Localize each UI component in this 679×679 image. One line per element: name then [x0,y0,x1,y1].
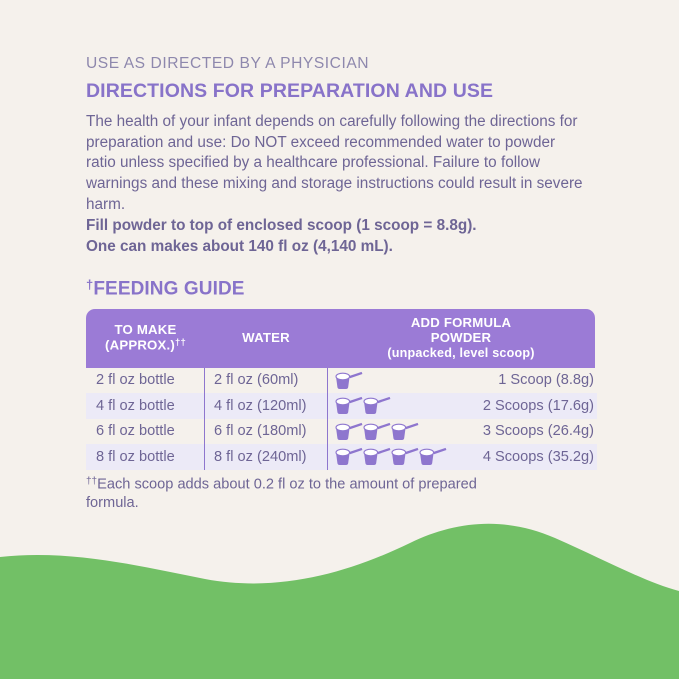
cell-scoops: 2 Scoops (17.6g) [328,393,597,419]
footnote-marker: †† [86,476,97,487]
scoop-icon [391,447,419,466]
scoop-count-label: 1 Scoop (8.8g) [498,372,594,388]
column-header-to-make: TO MAKE (APPROX.)†† [86,323,205,353]
cell-to-make: 4 fl oz bottle [86,393,205,419]
cell-to-make: 2 fl oz bottle [86,368,205,394]
table-row: 2 fl oz bottle2 fl oz (60ml)1 Scoop (8.8… [86,368,597,394]
cell-scoops: 4 Scoops (35.2g) [328,444,597,470]
to-make-approx: (APPROX.) [105,337,175,352]
powder-line1: ADD FORMULA [327,316,595,331]
scoop-icon [335,447,363,466]
directions-paragraph: The health of your infant depends on car… [86,112,586,258]
one-can-line: One can makes about 140 fl oz (4,140 mL)… [86,237,586,258]
feeding-guide-heading-label: FEEDING GUIDE [93,279,244,300]
fill-powder-line: Fill powder to top of enclosed scoop (1 … [86,216,586,237]
scoop-icon-group [335,447,447,466]
cell-scoops: 3 Scoops (26.4g) [328,419,597,445]
cell-water: 4 fl oz (120ml) [205,393,328,419]
scoop-icon [363,447,391,466]
table-body: 2 fl oz bottle2 fl oz (60ml)1 Scoop (8.8… [86,368,597,470]
feeding-guide-heading: †FEEDING GUIDE [86,277,606,301]
table-row: 8 fl oz bottle8 fl oz (240ml)4 Scoops (3… [86,444,597,470]
label-content: USE AS DIRECTED BY A PHYSICIAN DIRECTION… [86,54,606,513]
scoop-icon [419,447,447,466]
powder-subtitle: (unpacked, level scoop) [327,346,595,360]
scoop-count-label: 3 Scoops (26.4g) [483,423,594,439]
column-header-add-formula-powder: ADD FORMULA POWDER (unpacked, level scoo… [327,316,595,360]
scoop-icon [391,422,419,441]
to-make-line1: TO MAKE [86,323,205,338]
cell-scoops: 1 Scoop (8.8g) [328,368,597,394]
scoop-icon [363,396,391,415]
eyebrow-text: USE AS DIRECTED BY A PHYSICIAN [86,54,606,73]
powder-line2: POWDER [327,331,595,346]
scoop-icon [335,396,363,415]
directions-text: The health of your infant depends on car… [86,113,583,213]
scoop-icon [363,422,391,441]
scoop-icon-group [335,422,419,441]
page-title: DIRECTIONS FOR PREPARATION AND USE [86,80,606,103]
scoop-icon-group [335,396,391,415]
cell-to-make: 8 fl oz bottle [86,444,205,470]
table-footnote: ††Each scoop adds about 0.2 fl oz to the… [86,475,526,513]
table-header-row: TO MAKE (APPROX.)†† WATER ADD FORMULA PO… [86,309,595,368]
footnote-text: Each scoop adds about 0.2 fl oz to the a… [86,476,477,511]
scoop-count-label: 4 Scoops (35.2g) [483,449,594,465]
to-make-line2: (APPROX.)†† [86,338,205,353]
feeding-guide-table: TO MAKE (APPROX.)†† WATER ADD FORMULA PO… [86,309,597,470]
cell-water: 2 fl oz (60ml) [205,368,328,394]
table-row: 4 fl oz bottle4 fl oz (120ml)2 Scoops (1… [86,393,597,419]
scoop-count-label: 2 Scoops (17.6g) [483,398,594,414]
cell-water: 6 fl oz (180ml) [205,419,328,445]
cell-to-make: 6 fl oz bottle [86,419,205,445]
product-label-panel: USE AS DIRECTED BY A PHYSICIAN DIRECTION… [0,0,679,679]
scoop-icon-group [335,371,363,390]
column-header-water: WATER [205,331,327,346]
scoop-icon [335,422,363,441]
cell-water: 8 fl oz (240ml) [205,444,328,470]
to-make-footnote-marker: †† [175,337,186,348]
table-row: 6 fl oz bottle6 fl oz (180ml)3 Scoops (2… [86,419,597,445]
scoop-icon [335,371,363,390]
